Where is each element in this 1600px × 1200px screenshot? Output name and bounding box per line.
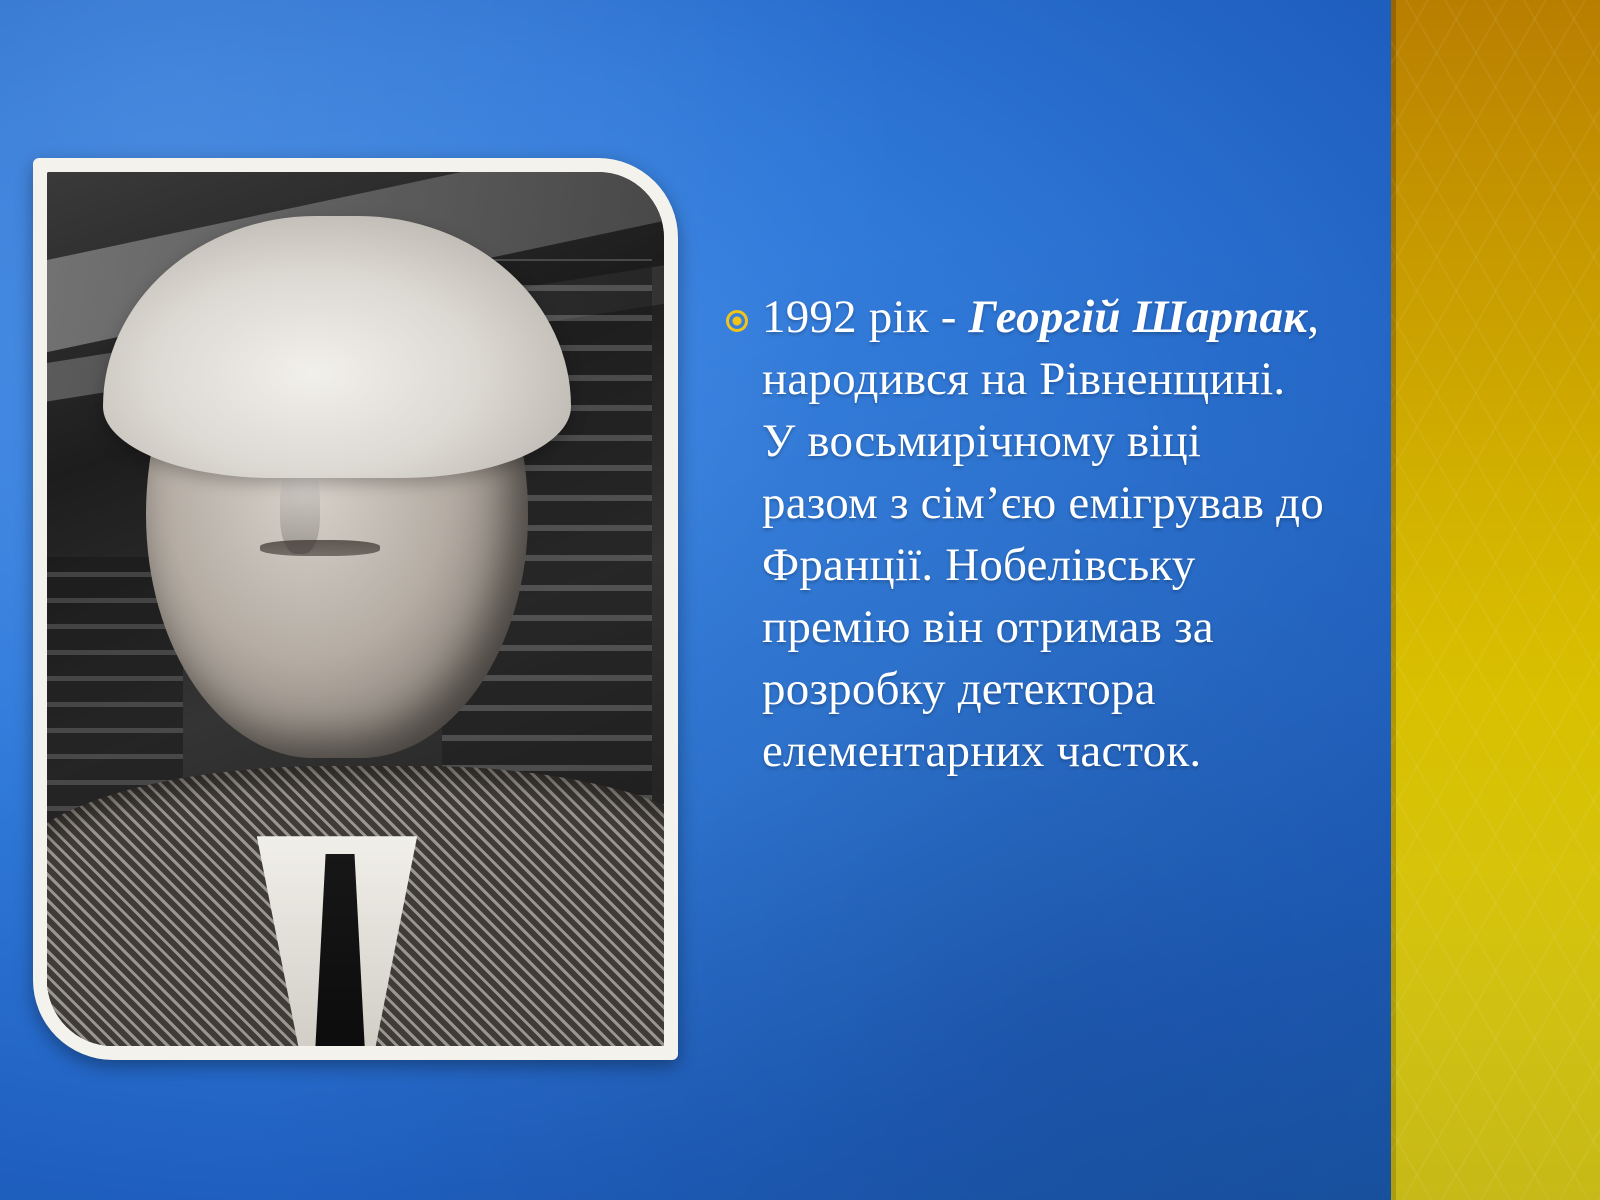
bullet-item-text: 1992 рік - Георгій Шарпак, народився на … xyxy=(762,286,1326,782)
list-item: 1992 рік - Георгій Шарпак, народився на … xyxy=(726,286,1326,782)
bullet-text-emphasis: Георгій Шарпак xyxy=(969,291,1308,343)
content-text-column: 1992 рік - Георгій Шарпак, народився на … xyxy=(726,286,1326,782)
decorative-gold-band xyxy=(1391,0,1600,1200)
bullet-point-icon xyxy=(726,310,748,332)
bullet-text-prefix: 1992 рік - xyxy=(762,291,969,343)
slide: 1992 рік - Георгій Шарпак, народився на … xyxy=(0,0,1600,1200)
portrait-photo-frame xyxy=(33,158,678,1060)
bullet-text-rest: , народився на Рівненщині. У восьмирічно… xyxy=(762,291,1324,777)
portrait-mouth xyxy=(260,540,380,556)
portrait-photo xyxy=(47,172,664,1046)
gold-band-edge xyxy=(1391,0,1396,1200)
